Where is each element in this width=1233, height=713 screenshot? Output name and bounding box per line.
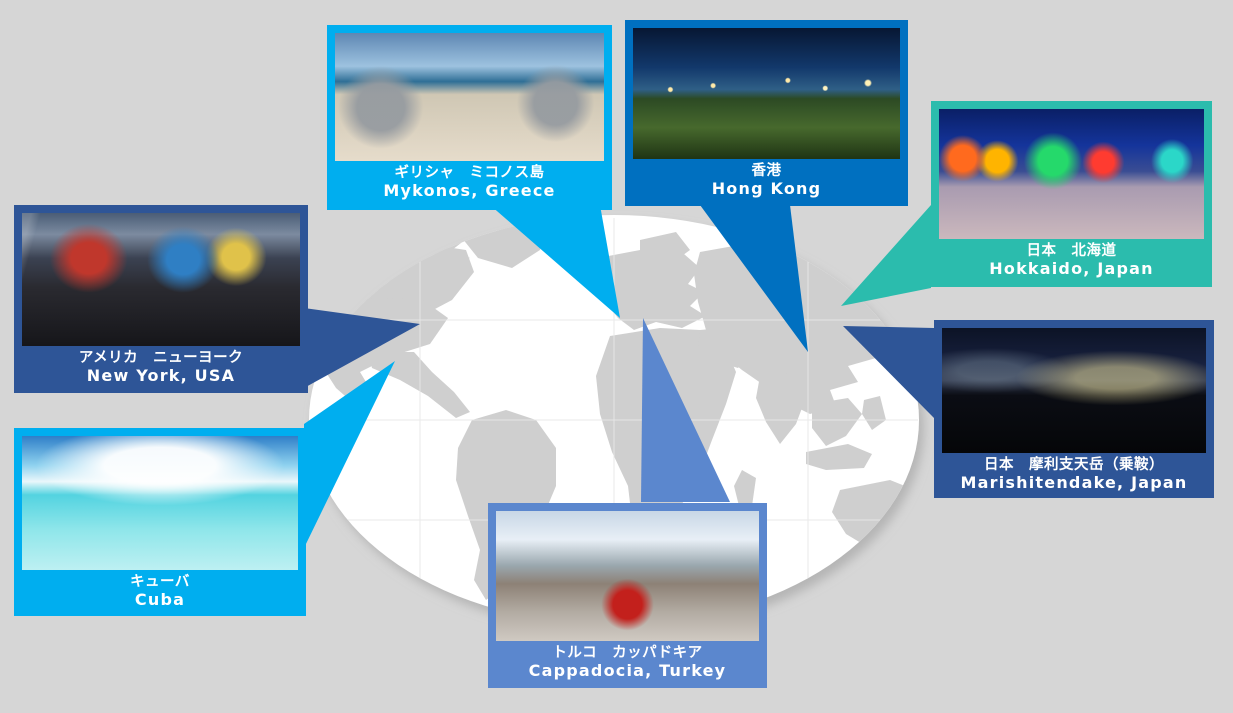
callout-card-hokkaido[interactable]: 日本 北海道 Hokkaido, Japan — [931, 101, 1212, 287]
caption-jp: キューバ — [22, 574, 298, 591]
caption-en: New York, USA — [22, 367, 300, 386]
caption-en: Cappadocia, Turkey — [496, 662, 759, 681]
caption-en: Mykonos, Greece — [335, 182, 604, 201]
photo-hokkaido[interactable] — [939, 109, 1204, 239]
callout-card-cuba[interactable]: キューバ Cuba — [14, 428, 306, 616]
caption-new-york: アメリカ ニューヨーク New York, USA — [22, 346, 300, 386]
callout-card-new-york[interactable]: アメリカ ニューヨーク New York, USA — [14, 205, 308, 393]
caption-en: Hokkaido, Japan — [939, 260, 1204, 279]
caption-jp: ギリシャ ミコノス島 — [335, 165, 604, 182]
caption-en: Cuba — [22, 591, 298, 610]
pointer-marishiten — [843, 326, 934, 418]
photo-cappadocia[interactable] — [496, 511, 759, 641]
slide-canvas: ギリシャ ミコノス島 Mykonos, Greece 香港 Hong Kong … — [0, 0, 1233, 713]
caption-hokkaido: 日本 北海道 Hokkaido, Japan — [939, 239, 1204, 279]
photo-mykonos[interactable] — [335, 33, 604, 161]
callout-card-marishitendake[interactable]: 日本 摩利支天岳（乗鞍） Marishitendake, Japan — [934, 320, 1214, 498]
caption-jp: 香港 — [633, 163, 900, 180]
photo-new-york[interactable] — [22, 213, 300, 346]
photo-hongkong[interactable] — [633, 28, 900, 159]
caption-jp: 日本 北海道 — [939, 243, 1204, 260]
caption-jp: アメリカ ニューヨーク — [22, 350, 300, 367]
pointer-cuba — [304, 361, 395, 548]
pointer-newyork — [304, 308, 420, 388]
caption-cuba: キューバ Cuba — [22, 570, 298, 610]
pointer-cappadocia — [641, 318, 730, 502]
callout-card-cappadocia[interactable]: トルコ カッパドキア Cappadocia, Turkey — [488, 503, 767, 688]
caption-marishitendake: 日本 摩利支天岳（乗鞍） Marishitendake, Japan — [942, 453, 1206, 493]
caption-mykonos: ギリシャ ミコノス島 Mykonos, Greece — [335, 161, 604, 201]
caption-en: Marishitendake, Japan — [942, 474, 1206, 493]
caption-cappadocia: トルコ カッパドキア Cappadocia, Turkey — [496, 641, 759, 681]
caption-hongkong: 香港 Hong Kong — [633, 159, 900, 199]
callout-card-mykonos[interactable]: ギリシャ ミコノス島 Mykonos, Greece — [327, 25, 612, 210]
caption-jp: 日本 摩利支天岳（乗鞍） — [942, 457, 1206, 474]
caption-en: Hong Kong — [633, 180, 900, 199]
pointer-hokkaido — [841, 205, 931, 306]
photo-cuba[interactable] — [22, 436, 298, 570]
callout-card-hongkong[interactable]: 香港 Hong Kong — [625, 20, 908, 206]
photo-marishitendake[interactable] — [942, 328, 1206, 453]
pointer-mykonos — [490, 205, 620, 318]
caption-jp: トルコ カッパドキア — [496, 645, 759, 662]
pointer-hongkong — [700, 205, 808, 352]
